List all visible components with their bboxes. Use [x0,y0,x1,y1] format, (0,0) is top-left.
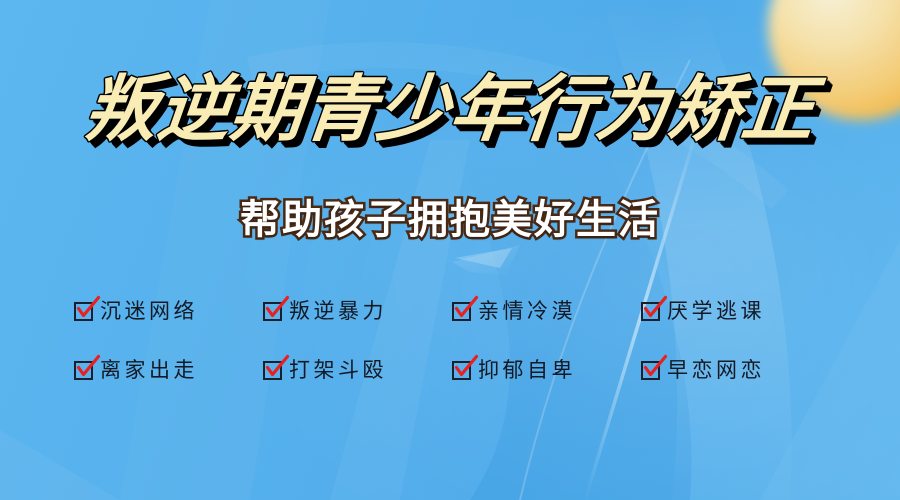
checkbox-checked-icon[interactable] [74,302,93,321]
list-item-label: 厌学逃课 [667,301,765,322]
list-item-label: 沉迷网络 [100,301,198,322]
list-item[interactable]: 沉迷网络 [74,296,263,326]
list-item-label: 早恋网恋 [667,360,765,381]
list-item[interactable]: 离家出走 [74,355,263,385]
checkbox-checked-icon[interactable] [452,361,471,380]
list-item-label: 抑郁自卑 [478,360,576,381]
page-title: 叛逆期青少年行为矫正 [0,72,900,148]
list-item-label: 叛逆暴力 [289,301,387,322]
list-item[interactable]: 厌学逃课 [641,296,830,326]
list-item-label: 打架斗殴 [289,360,387,381]
list-item[interactable]: 早恋网恋 [641,355,830,385]
list-item[interactable]: 抑郁自卑 [452,355,641,385]
poster-banner: 叛逆期青少年行为矫正 帮助孩子拥抱美好生活 沉迷网络 叛逆暴力 亲情冷漠 [0,0,900,500]
page-subtitle: 帮助孩子拥抱美好生活 [0,196,900,244]
checkbox-checked-icon[interactable] [641,302,660,321]
checkbox-checked-icon[interactable] [263,361,282,380]
checkbox-checked-icon[interactable] [452,302,471,321]
list-item[interactable]: 打架斗殴 [263,355,452,385]
checkbox-checked-icon[interactable] [263,302,282,321]
list-item[interactable]: 叛逆暴力 [263,296,452,326]
checklist: 沉迷网络 叛逆暴力 亲情冷漠 厌学逃课 离家出走 [74,296,830,385]
list-item[interactable]: 亲情冷漠 [452,296,641,326]
checkbox-checked-icon[interactable] [74,361,93,380]
checkbox-checked-icon[interactable] [641,361,660,380]
list-item-label: 亲情冷漠 [478,301,576,322]
page-subtitle-text: 帮助孩子拥抱美好生活 [240,196,660,244]
page-title-text: 叛逆期青少年行为矫正 [81,72,819,148]
list-item-label: 离家出走 [100,360,198,381]
